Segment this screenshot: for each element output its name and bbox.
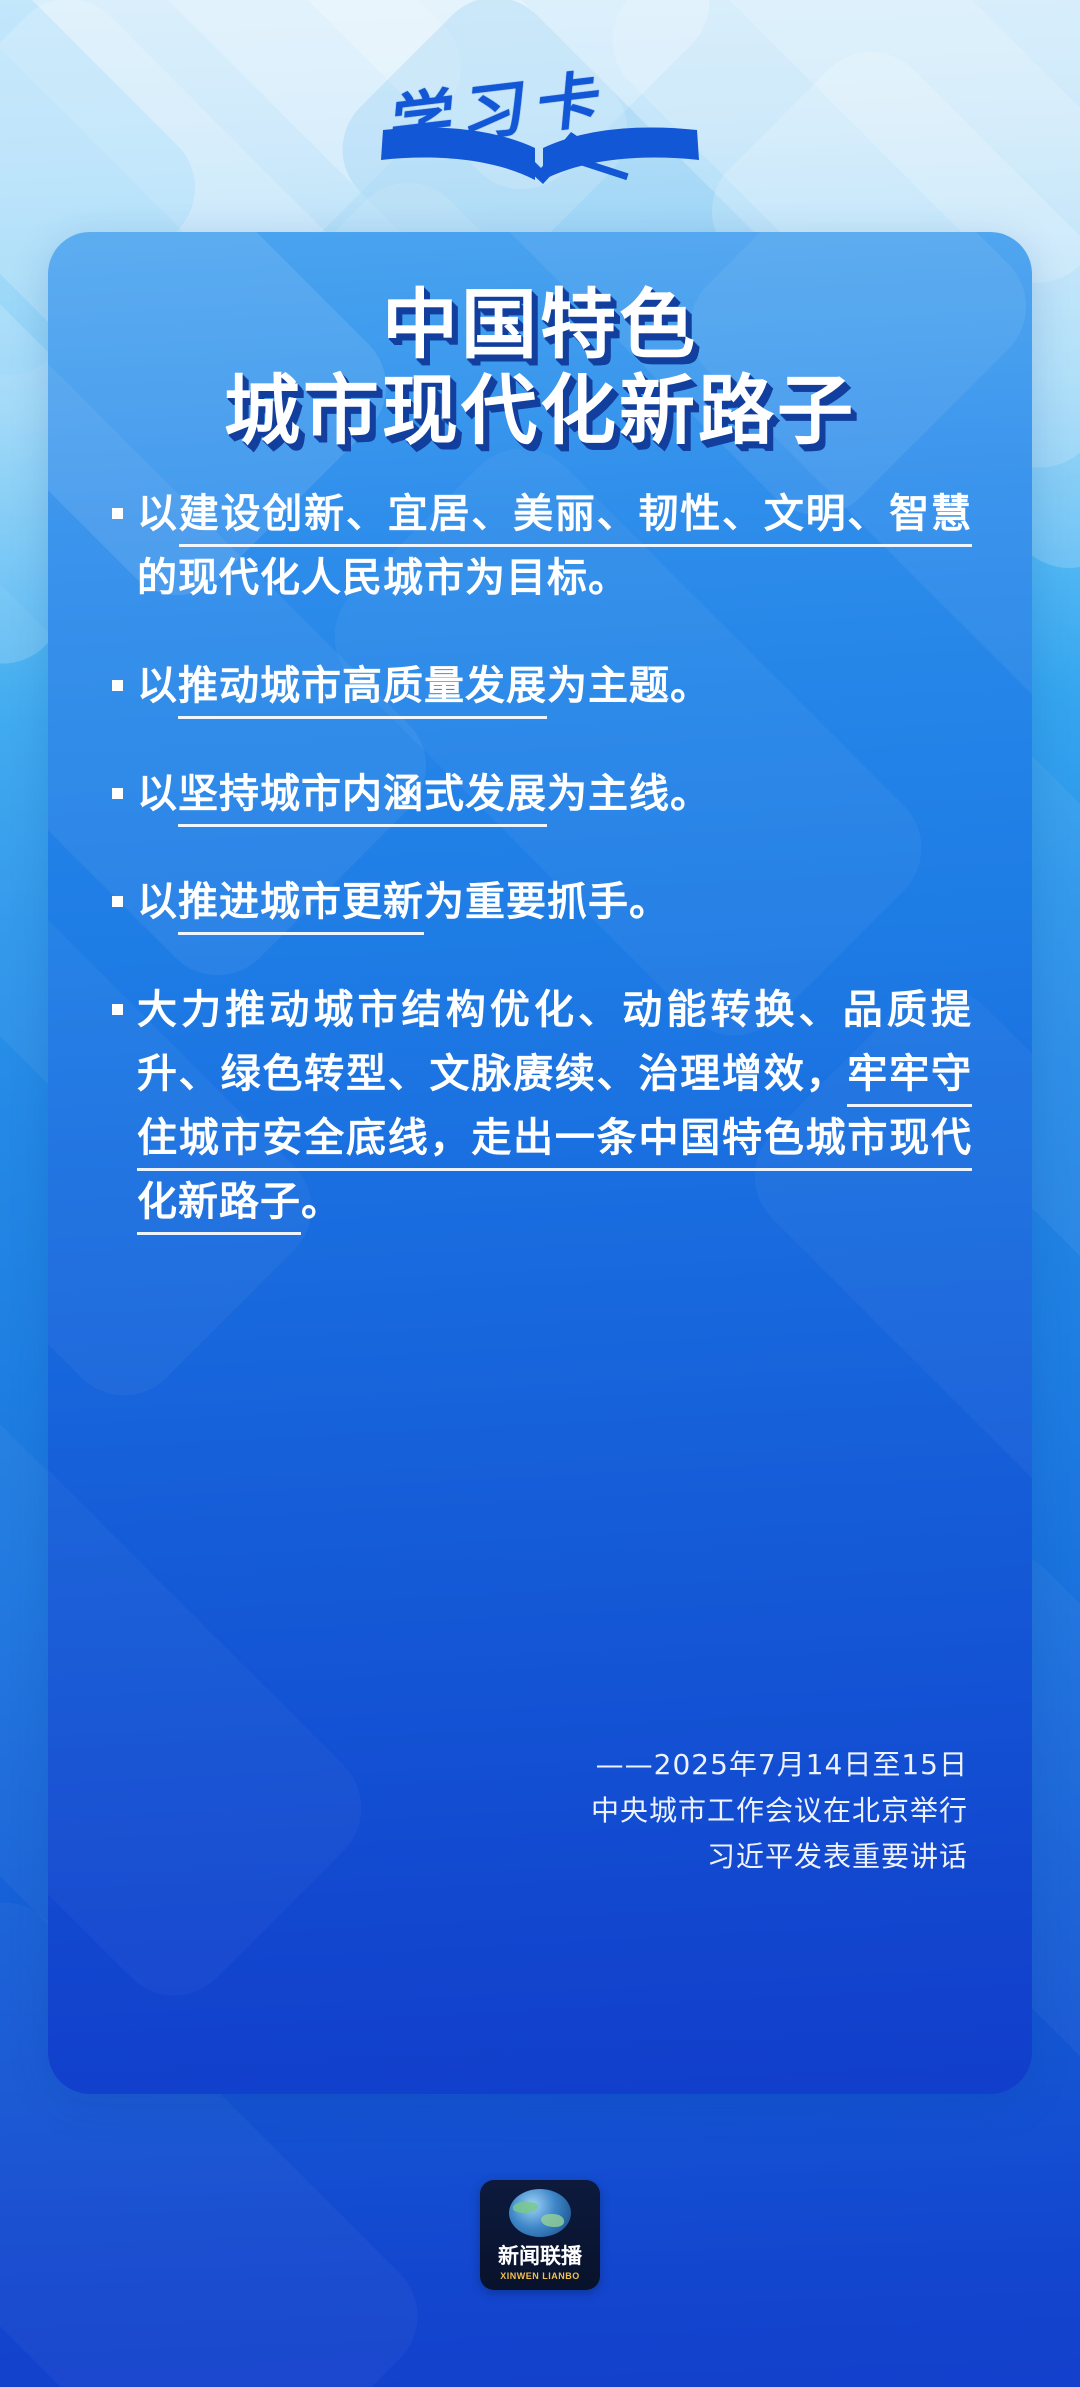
cctv-badge: 新闻联播 XINWEN LIANBO xyxy=(480,2180,600,2290)
cctv-badge-cn: 新闻联播 xyxy=(498,2240,582,2270)
plain-text: 以 xyxy=(137,771,178,817)
plain-text: 以 xyxy=(137,879,178,925)
list-item: 以建设创新、宜居、美丽、韧性、文明、智慧的现代化人民城市为目标。 xyxy=(112,482,972,610)
attribution: ——2025年7月14日至15日中央城市工作会议在北京举行习近平发表重要讲话 xyxy=(248,1742,968,1880)
attribution-line: 习近平发表重要讲话 xyxy=(248,1834,968,1880)
plain-text: 以 xyxy=(137,663,178,709)
list-item: 以推动城市高质量发展为主题。 xyxy=(112,654,972,718)
plain-text: 的现代化人民城市为目标。 xyxy=(137,555,629,601)
brand-logo: 学习卡 xyxy=(0,56,1080,186)
square-bullet-icon xyxy=(112,1004,123,1015)
square-bullet-icon xyxy=(112,508,123,519)
open-book-icon xyxy=(375,122,705,184)
plain-text: 为主题。 xyxy=(547,663,711,709)
page-title: 中国特色 城市现代化新路子 xyxy=(48,282,1032,454)
emphasis-underline: 建设创新、宜居、美丽、韧性、文明、智慧 xyxy=(179,491,972,547)
emphasis-underline: 坚持城市内涵式发展 xyxy=(178,771,547,827)
attribution-line: 中央城市工作会议在北京举行 xyxy=(248,1788,968,1834)
content-card: 中国特色 城市现代化新路子 以建设创新、宜居、美丽、韧性、文明、智慧的现代化人民… xyxy=(48,232,1032,2094)
list-item-text: 以推进城市更新为重要抓手。 xyxy=(137,870,670,934)
emphasis-underline: 推动城市高质量发展 xyxy=(178,663,547,719)
list-item: 以坚持城市内涵式发展为主线。 xyxy=(112,762,972,826)
list-item-text: 大力推动城市结构优化、动能转换、品质提升、绿色转型、文脉赓续、治理增效，牢牢守住… xyxy=(137,978,972,1234)
globe-icon xyxy=(509,2189,571,2237)
list-item-text: 以建设创新、宜居、美丽、韧性、文明、智慧的现代化人民城市为目标。 xyxy=(137,482,972,610)
list-item: 以推进城市更新为重要抓手。 xyxy=(112,870,972,934)
square-bullet-icon xyxy=(112,788,123,799)
list-item: 大力推动城市结构优化、动能转换、品质提升、绿色转型、文脉赓续、治理增效，牢牢守住… xyxy=(112,978,972,1234)
emphasis-underline: 推进城市更新 xyxy=(178,879,424,935)
plain-text: 以 xyxy=(137,491,179,537)
plain-text: 为主线。 xyxy=(547,771,711,817)
cctv-news-logo: 新闻联播 XINWEN LIANBO xyxy=(0,2170,1080,2300)
title-line-1: 中国特色 xyxy=(48,282,1032,368)
title-line-2: 城市现代化新路子 xyxy=(48,368,1032,454)
plain-text: 为重要抓手。 xyxy=(424,879,670,925)
attribution-line: ——2025年7月14日至15日 xyxy=(248,1742,968,1788)
bullet-list: 以建设创新、宜居、美丽、韧性、文明、智慧的现代化人民城市为目标。以推动城市高质量… xyxy=(112,482,972,1278)
plain-text: 。 xyxy=(301,1179,342,1225)
list-item-text: 以坚持城市内涵式发展为主线。 xyxy=(137,762,711,826)
cctv-badge-en: XINWEN LIANBO xyxy=(500,2271,580,2281)
list-item-text: 以推动城市高质量发展为主题。 xyxy=(137,654,711,718)
square-bullet-icon xyxy=(112,896,123,907)
square-bullet-icon xyxy=(112,680,123,691)
